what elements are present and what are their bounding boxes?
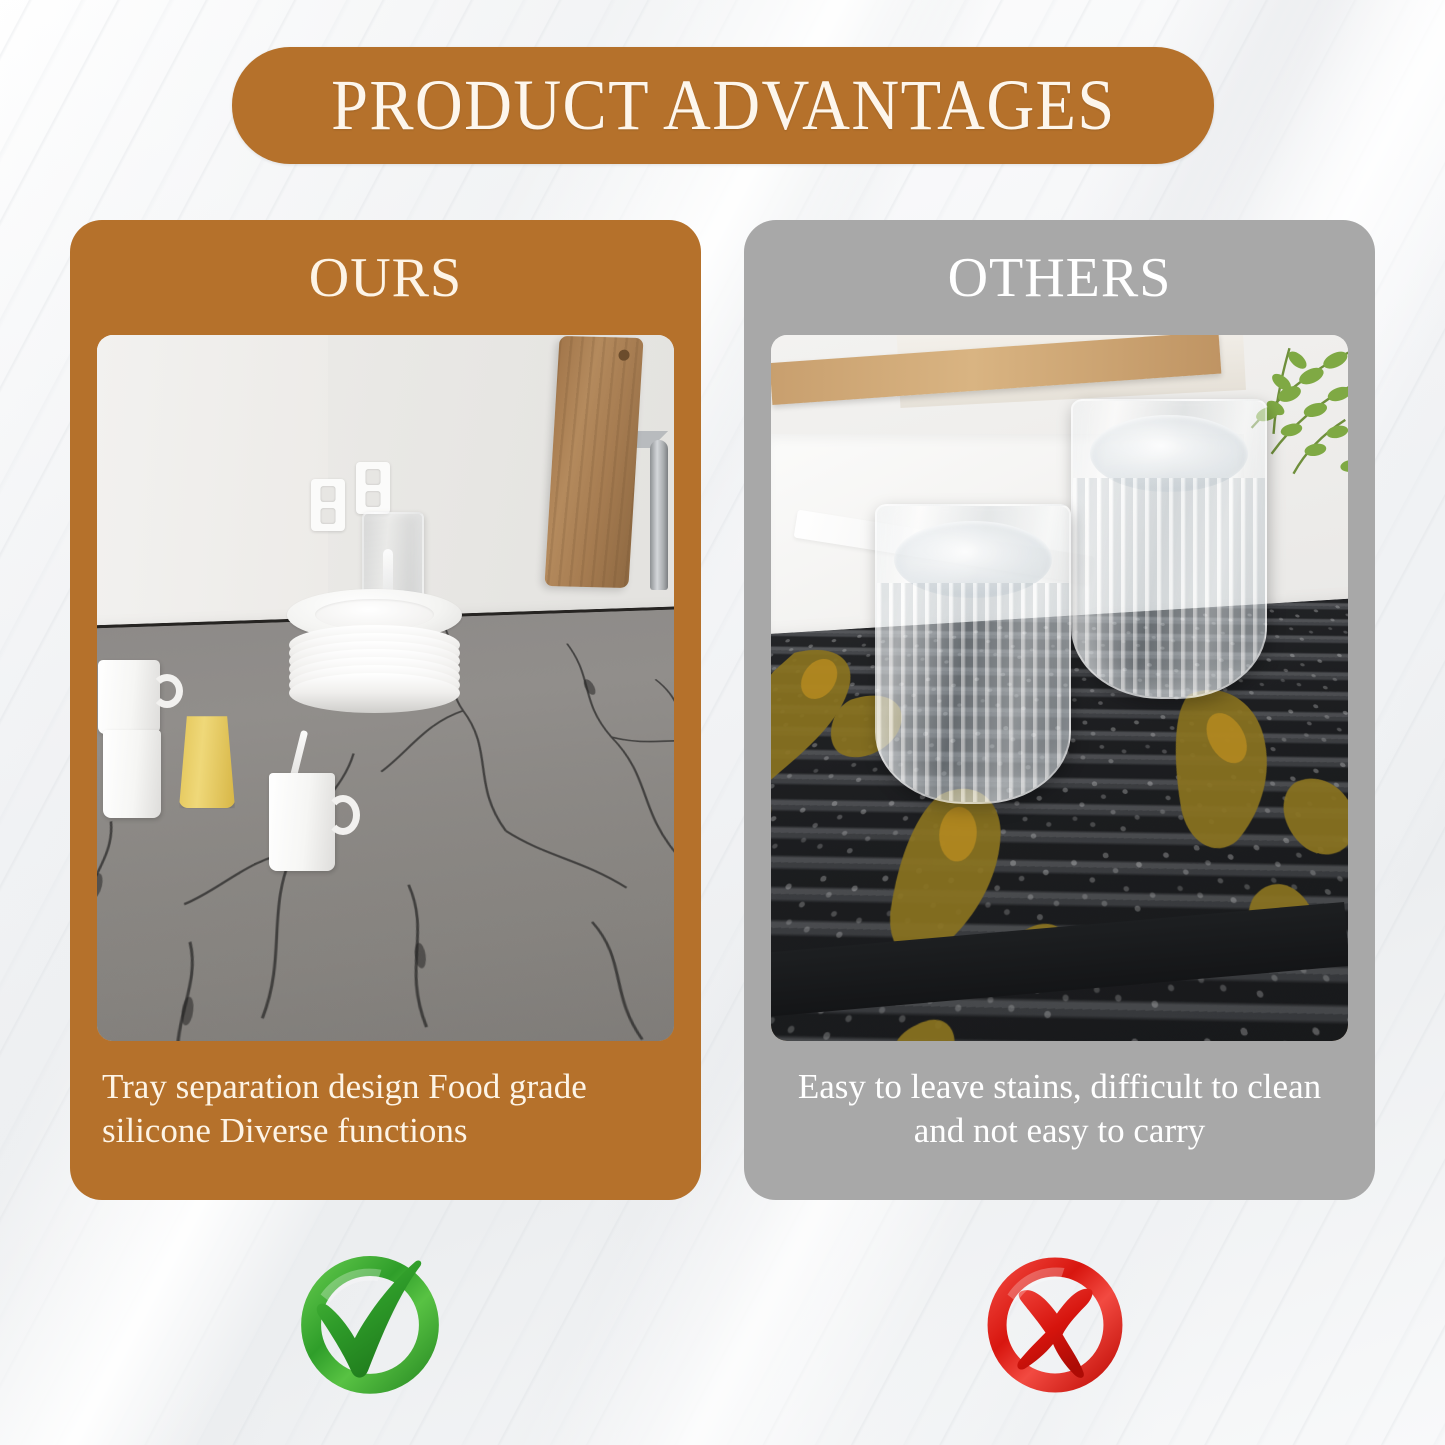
wall-switch-icon xyxy=(356,462,390,514)
cutting-board xyxy=(544,336,643,588)
plate-stack xyxy=(287,589,462,687)
panel-heading-ours: OURS xyxy=(70,220,701,335)
panel-heading-others: OTHERS xyxy=(744,220,1375,335)
cutting-board-grain xyxy=(544,336,643,588)
comparison-panel-ours: OURS xyxy=(70,220,701,1200)
panel-caption-others: Easy to leave stains, difficult to clean… xyxy=(776,1065,1343,1153)
drinking-glass-front xyxy=(875,504,1071,804)
red-cross-icon xyxy=(979,1249,1131,1401)
product-photo-ours xyxy=(97,335,674,1041)
mug-handle xyxy=(326,795,360,835)
page-title: PRODUCT ADVANTAGES xyxy=(331,64,1116,147)
product-photo-others xyxy=(771,335,1348,1041)
yellow-cup xyxy=(179,716,235,808)
page-title-banner: PRODUCT ADVANTAGES xyxy=(232,47,1214,164)
white-mug xyxy=(98,660,160,734)
product-photo-others-scene xyxy=(771,335,1348,1041)
wall-outlet-icon xyxy=(311,479,345,531)
product-advantages-infographic: PRODUCT ADVANTAGES OURS xyxy=(0,0,1445,1445)
plate-layer xyxy=(289,673,460,713)
green-check-icon xyxy=(294,1247,446,1399)
faucet-body xyxy=(650,440,668,590)
drinking-glass-back xyxy=(1071,399,1267,699)
white-tall-mug xyxy=(269,773,335,871)
comparison-panel-others: OTHERS xyxy=(744,220,1375,1200)
product-photo-ours-scene xyxy=(97,335,674,1041)
panel-caption-ours: Tray separation design Food grade silico… xyxy=(102,1065,669,1153)
glass-ribs xyxy=(1073,478,1265,697)
panel-heading-label-ours: OURS xyxy=(309,246,462,310)
white-cup xyxy=(103,730,161,818)
glass-ribs xyxy=(877,583,1069,802)
panel-heading-label-others: OTHERS xyxy=(948,246,1172,310)
mug-handle xyxy=(151,674,183,708)
